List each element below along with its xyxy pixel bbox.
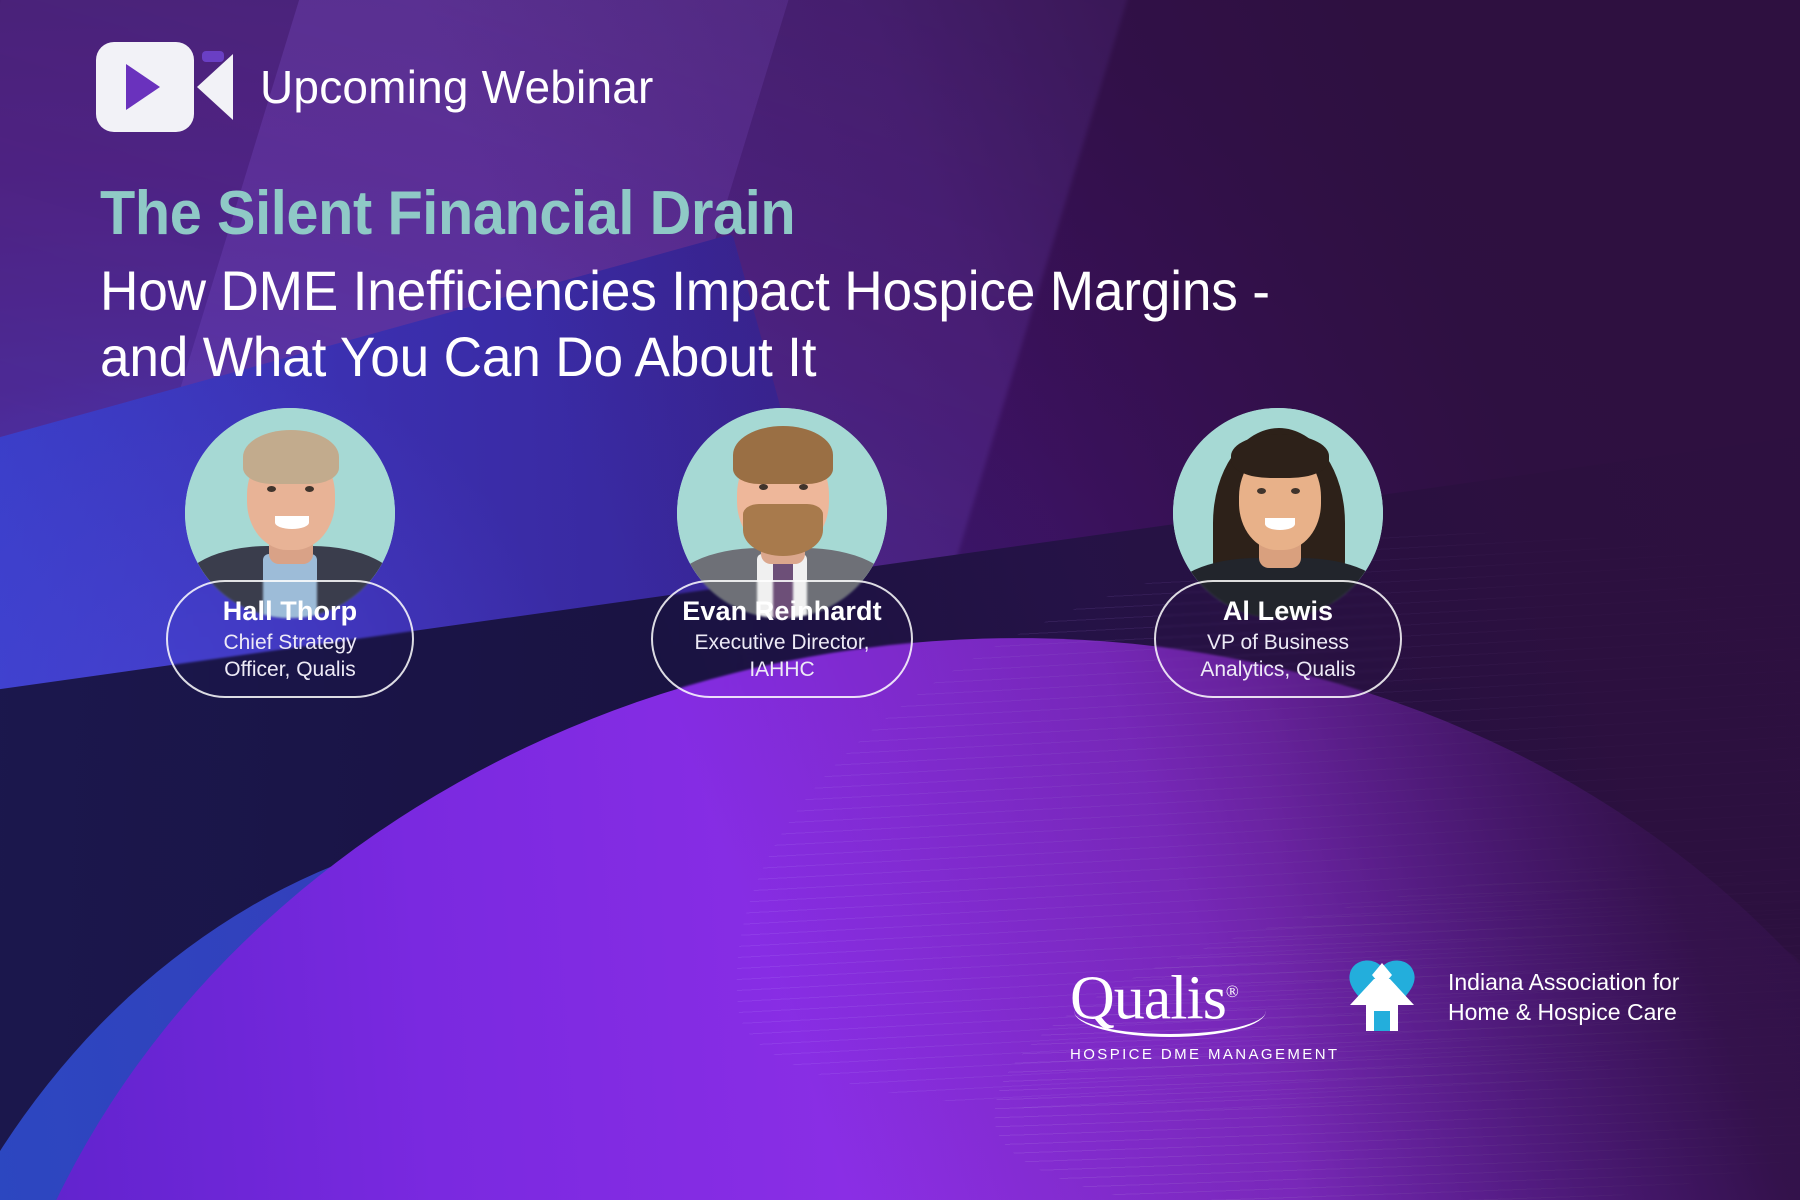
speaker-role: Executive Director, IAHHC <box>694 629 869 683</box>
header-label: Upcoming Webinar <box>260 60 654 114</box>
speaker-role: VP of Business Analytics, Qualis <box>1200 629 1355 683</box>
iahhc-name: Indiana Association for Home & Hospice C… <box>1448 967 1679 1027</box>
avatar-eye-left <box>759 484 768 490</box>
iahhc-name-line-2: Home & Hospice Care <box>1448 997 1679 1027</box>
avatar-eye-right <box>1291 488 1300 494</box>
avatar-hair <box>733 426 833 484</box>
speaker-role-line-2: IAHHC <box>694 656 869 683</box>
house-door <box>1374 1011 1390 1031</box>
speaker-card-evan-reinhardt: Evan Reinhardt Executive Director, IAHHC <box>572 408 992 698</box>
speaker-role-line-1: Executive Director, <box>694 629 869 656</box>
avatar-hair <box>243 430 339 484</box>
page-subtitle-line-2: and What You Can Do About It <box>100 324 1525 390</box>
house-heart-svg <box>1336 959 1428 1035</box>
qualis-logo: Qualis® HOSPICE DME MANAGEMENT <box>1070 955 1270 1063</box>
logo-row: Qualis® HOSPICE DME MANAGEMENT Indiana A… <box>1070 955 1679 1063</box>
avatar-eye-right <box>305 486 314 492</box>
qualis-wordmark-wrap: Qualis® <box>1070 963 1239 1028</box>
video-camera-icon <box>96 42 234 132</box>
avatar-hair-front <box>1231 434 1329 478</box>
speaker-name: Al Lewis <box>1223 596 1333 627</box>
iahhc-logo: Indiana Association for Home & Hospice C… <box>1336 955 1679 1035</box>
registered-trademark-icon: ® <box>1226 982 1239 1001</box>
page-subtitle: How DME Inefficiencies Impact Hospice Ma… <box>100 258 1525 390</box>
avatar-mouth <box>1265 518 1295 530</box>
video-camera-lens-icon <box>197 54 233 120</box>
qualis-tagline: HOSPICE DME MANAGEMENT <box>1070 1046 1270 1063</box>
avatar-eye-left <box>1257 488 1266 494</box>
play-triangle-icon <box>126 64 160 110</box>
avatar-beard <box>743 504 823 556</box>
page-subtitle-line-1: How DME Inefficiencies Impact Hospice Ma… <box>100 258 1525 324</box>
speaker-role: Chief Strategy Officer, Qualis <box>223 629 356 683</box>
avatar-eye-left <box>267 486 276 492</box>
speaker-name: Evan Reinhardt <box>682 596 881 627</box>
speaker-badge: Hall Thorp Chief Strategy Officer, Quali… <box>166 580 414 698</box>
speaker-badge: Al Lewis VP of Business Analytics, Quali… <box>1154 580 1402 698</box>
house-heart-icon <box>1336 959 1428 1035</box>
page-title-headline: The Silent Financial Drain <box>100 178 795 249</box>
speaker-card-hall-thorp: Hall Thorp Chief Strategy Officer, Quali… <box>80 408 500 698</box>
webinar-promo-graphic: Upcoming Webinar The Silent Financial Dr… <box>0 0 1800 1200</box>
speaker-role-line-2: Officer, Qualis <box>223 656 356 683</box>
iahhc-name-line-1: Indiana Association for <box>1448 967 1679 997</box>
avatar-mouth <box>275 516 309 529</box>
speaker-role-line-1: VP of Business <box>1200 629 1355 656</box>
header-banner: Upcoming Webinar <box>96 42 654 132</box>
qualis-swoosh-icon <box>1074 1011 1266 1037</box>
speaker-name: Hall Thorp <box>223 596 358 627</box>
avatar-eye-right <box>799 484 808 490</box>
speaker-badge: Evan Reinhardt Executive Director, IAHHC <box>651 580 913 698</box>
speaker-role-line-1: Chief Strategy <box>223 629 356 656</box>
speaker-role-line-2: Analytics, Qualis <box>1200 656 1355 683</box>
speaker-card-al-lewis: Al Lewis VP of Business Analytics, Quali… <box>1068 408 1488 698</box>
